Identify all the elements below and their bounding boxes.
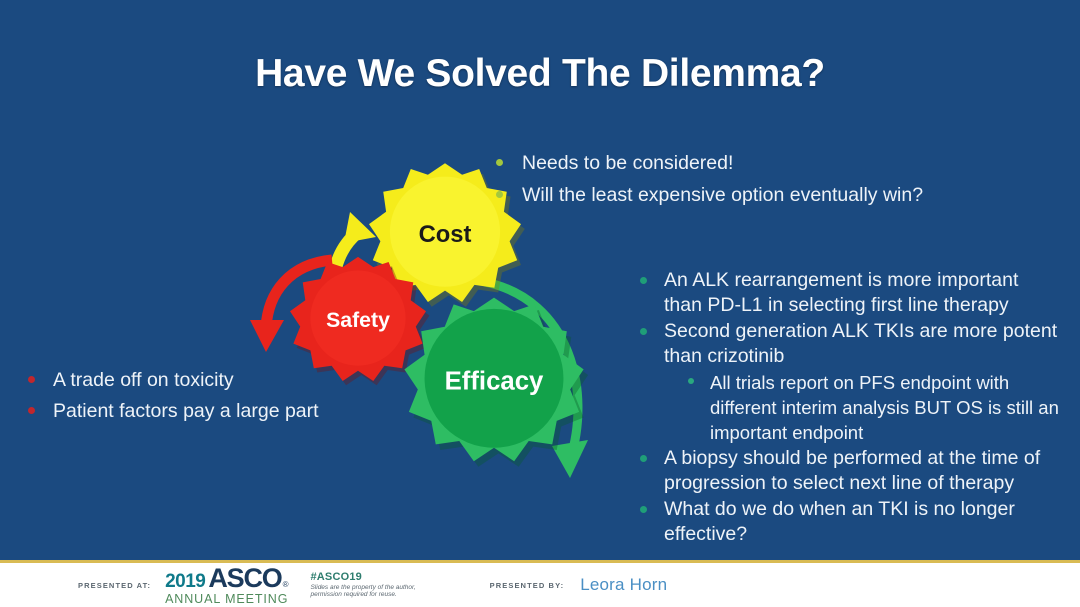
bullet-dot-icon (688, 378, 694, 384)
bullet-dot-icon (640, 455, 647, 462)
hashtag-block: #ASCO19 Slides are the property of the a… (310, 571, 415, 599)
slide-title: Have We Solved The Dilemma? (0, 52, 1080, 96)
asco-logo-subtitle: ANNUAL MEETING (165, 593, 288, 606)
asco-logo-year: 2019 (165, 572, 205, 591)
list-item: Needs to be considered! (496, 150, 966, 177)
bullet-dot-icon (28, 376, 35, 383)
efficacy-bullet-list: An ALK rearrangement is more important t… (640, 268, 1060, 548)
asco-logo-name: ASCO (208, 565, 281, 592)
slide-footer: Presented at: 2019 ASCO ® ANNUAL MEETING… (0, 560, 1080, 607)
safety-bullet-list: A trade off on toxicity Patient factors … (28, 367, 358, 429)
bullet-dot-icon (496, 159, 503, 166)
gear-cost-label: Cost (419, 221, 472, 248)
list-item: Second generation ALK TKIs are more pote… (640, 319, 1060, 369)
list-item: An ALK rearrangement is more important t… (640, 268, 1060, 318)
bullet-dot-icon (28, 407, 35, 414)
bullet-dot-icon (496, 191, 503, 198)
asco-logo: 2019 ASCO ® ANNUAL MEETING (165, 565, 288, 606)
safety-point-1: A trade off on toxicity (53, 367, 234, 394)
list-item: A trade off on toxicity (28, 367, 358, 394)
speaker-name: Leora Horn (580, 575, 667, 595)
legal-line-2: permission required for reuse. (310, 591, 415, 599)
list-item: Patient factors pay a large part (28, 398, 358, 425)
slide-canvas: Have We Solved The Dilemma? (0, 0, 1080, 607)
list-item-sub: All trials report on PFS endpoint with d… (640, 370, 1060, 445)
safety-point-2: Patient factors pay a large part (53, 398, 319, 425)
legal-line-1: Slides are the property of the author, (310, 584, 415, 592)
efficacy-point-1: An ALK rearrangement is more important t… (664, 268, 1060, 318)
bullet-dot-icon (640, 506, 647, 513)
cost-point-2: Will the least expensive option eventual… (522, 182, 923, 209)
registered-mark-icon: ® (283, 581, 289, 589)
presented-at-label: Presented at: (78, 581, 151, 590)
gear-efficacy: Efficacy (404, 298, 588, 467)
list-item: A biopsy should be performed at the time… (640, 446, 1060, 496)
cost-point-1: Needs to be considered! (522, 150, 733, 177)
gear-efficacy-label: Efficacy (445, 368, 544, 396)
efficacy-point-3: All trials report on PFS endpoint with d… (710, 370, 1060, 445)
conference-hashtag: #ASCO19 (310, 571, 415, 584)
list-item: Will the least expensive option eventual… (496, 182, 966, 209)
presented-by-label: Presented by: (490, 581, 565, 590)
bullet-dot-icon (640, 277, 647, 284)
list-item: What do we do when an TKI is no longer e… (640, 497, 1060, 547)
gear-safety-label: Safety (326, 308, 390, 332)
efficacy-point-5: What do we do when an TKI is no longer e… (664, 497, 1060, 547)
bullet-dot-icon (640, 328, 647, 335)
efficacy-point-4: A biopsy should be performed at the time… (664, 446, 1060, 496)
efficacy-point-2: Second generation ALK TKIs are more pote… (664, 319, 1060, 369)
cost-bullet-list: Needs to be considered! Will the least e… (496, 150, 966, 214)
